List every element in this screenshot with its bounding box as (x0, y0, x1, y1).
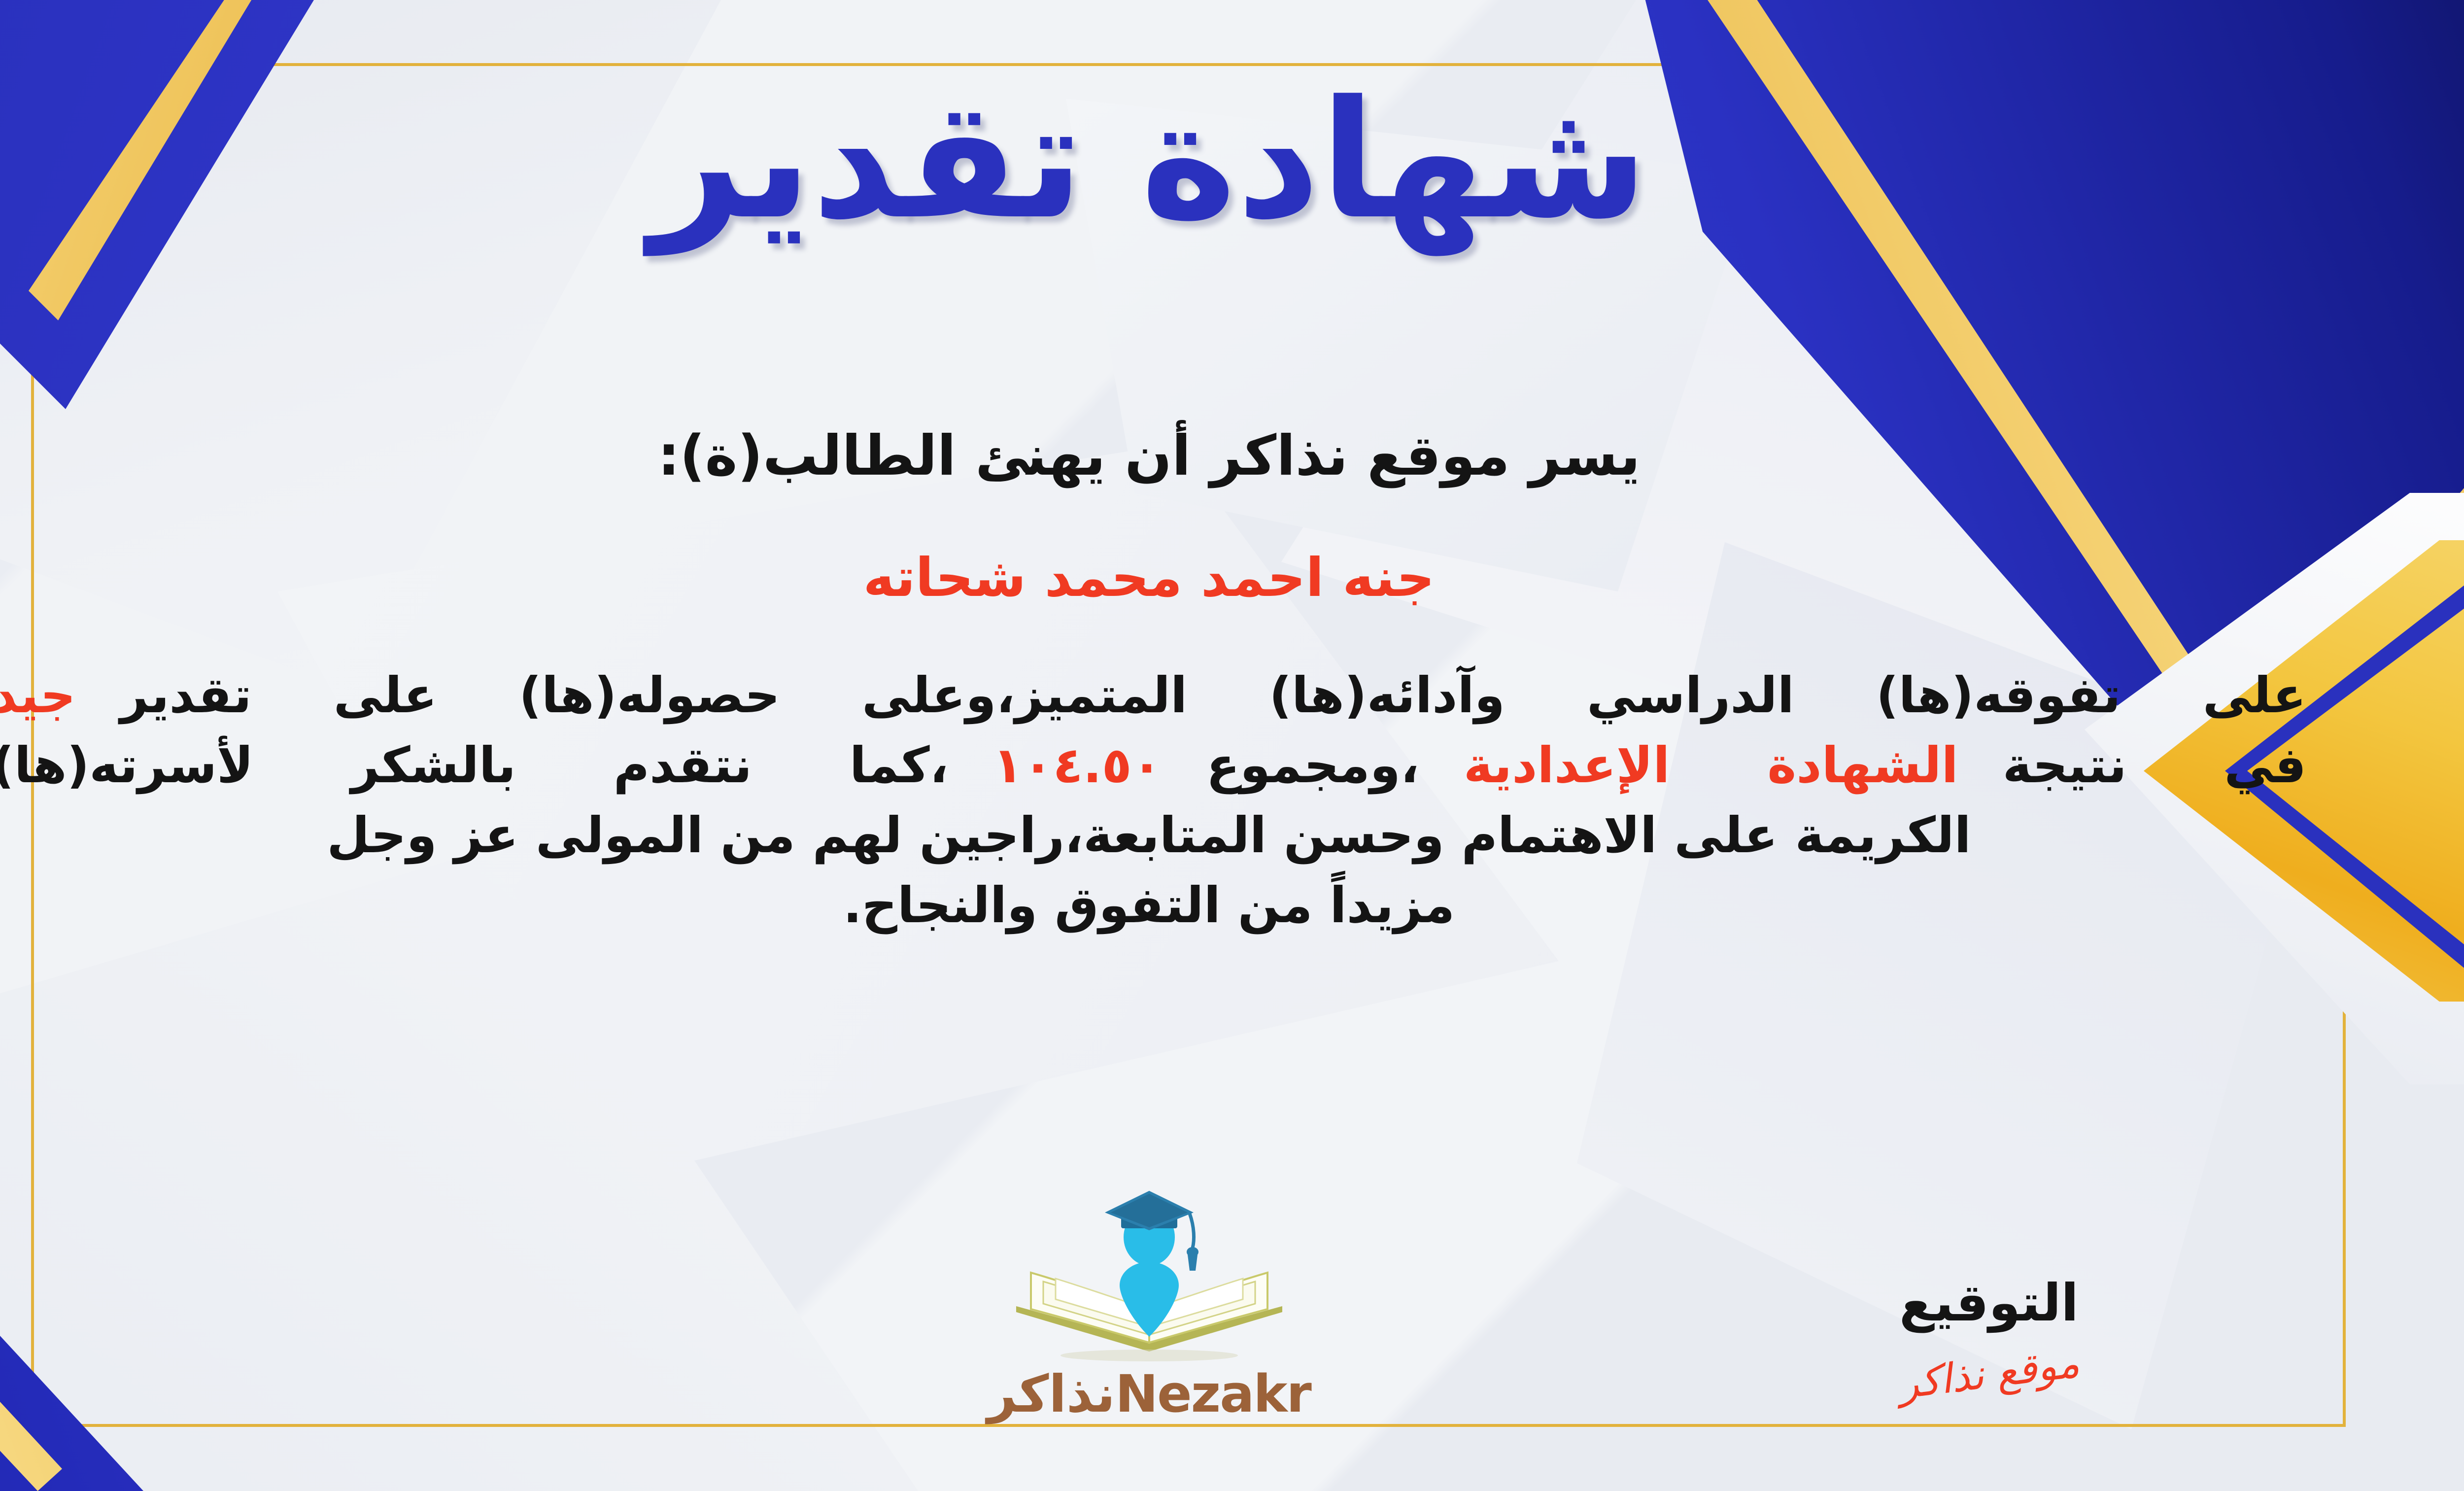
total-score: ١٠٤.٥٠ (993, 736, 1162, 794)
certificate-content: شهادة تقدير يسر موقع نذاكر أن يهنئ الطال… (0, 0, 2464, 1491)
body-line-2: في نتيجةالشهادة الإعدادية،ومجموع١٠٤.٥٠،ك… (0, 730, 2306, 800)
body-line-2-prefix: في نتيجة (2003, 736, 2306, 794)
brand-logo: Nezakrنذاكر (962, 1189, 1336, 1420)
body-line-2-suffix: ،كما نتقدم بالشكر لأسرته(ها) (0, 736, 949, 794)
body-line-2-mid: ،ومجموع (1206, 736, 1419, 794)
signature-script: موقع نذاكر (1896, 1340, 2082, 1408)
intro-line: يسر موقع نذاكر أن يهنئ الطالب(ة): (0, 424, 2464, 488)
certificate-body: على تفوقه(ها) الدراسي وآدائه(ها) المتميز… (0, 660, 2306, 940)
brand-name: Nezakrنذاكر (962, 1368, 1336, 1420)
grade-value: جيد (0, 666, 76, 724)
body-line-4: مزيداً من التفوق والنجاح. (0, 870, 2306, 940)
certificate-title: شهادة تقدير (0, 79, 2464, 242)
body-line-3: الكريمة على الاهتمام وحسن المتابعة،راجين… (0, 800, 2306, 870)
signature-area: التوقيع موقع نذاكر (1898, 1273, 2080, 1397)
body-line-1: على تفوقه(ها) الدراسي وآدائه(ها) المتميز… (0, 660, 2306, 730)
brand-name-latin: Nezakr (1115, 1364, 1311, 1424)
body-line-1-text: على تفوقه(ها) الدراسي وآدائه(ها) المتميز… (120, 666, 2306, 724)
graduate-book-icon (996, 1189, 1302, 1366)
certificate-canvas: شهادة تقدير يسر موقع نذاكر أن يهنئ الطال… (0, 0, 2464, 1491)
brand-name-arabic: نذاكر (987, 1364, 1115, 1424)
student-name: جنه احمد محمد شحاته (0, 547, 2464, 609)
exam-name: الشهادة الإعدادية (1464, 736, 1958, 794)
signature-label: التوقيع (1898, 1273, 2080, 1333)
